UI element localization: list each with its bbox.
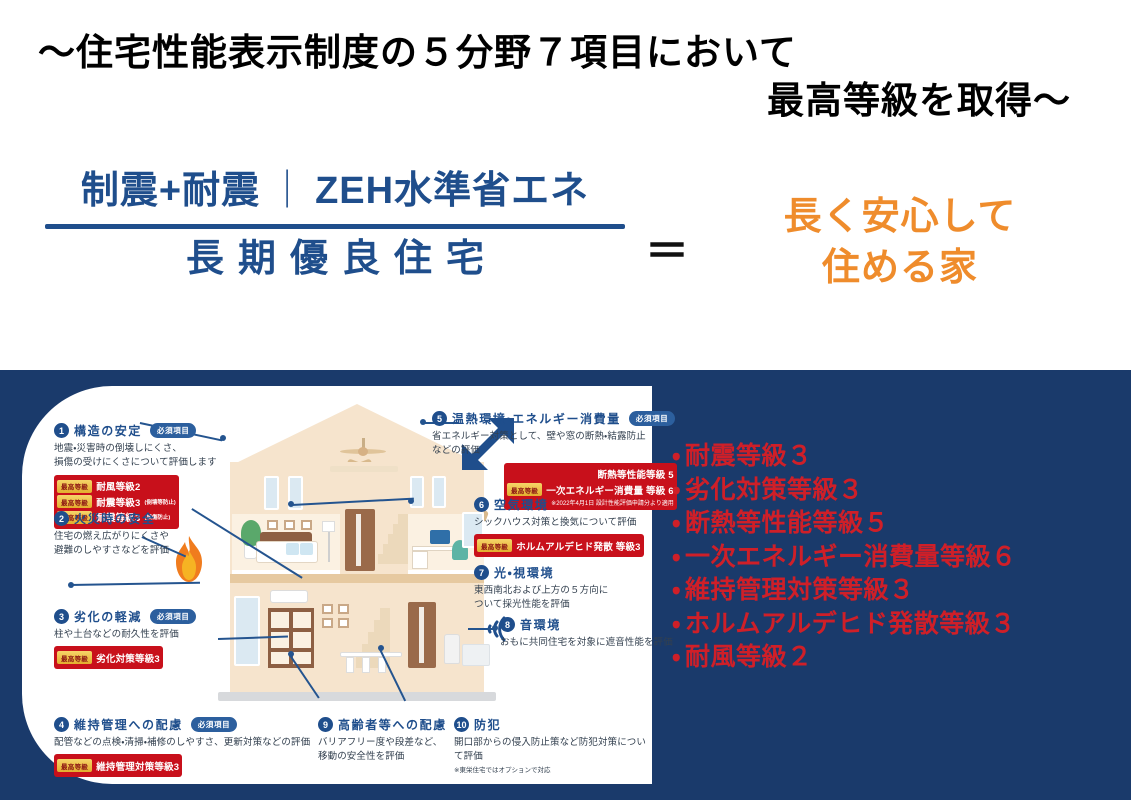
result-line2: 住める家 [700,243,1100,294]
callout-7-head: 7 光・視環境 [474,564,664,581]
grade-text: 一次エネルギー消費量 等級 6 [546,483,674,497]
callout-5: 5 温熱環境・エネルギー消費量 必須項目 省エネルギー対策として、壁や窓の断熱・… [432,410,654,510]
callout-4-head: 4 維持管理への配慮 必須項目 [54,716,354,733]
list-item: ・耐風等級２ [672,641,1112,675]
callout-3-desc: 柱や土台などの耐久性を評価 [54,628,234,642]
bullet: ・ [672,476,681,504]
result-line1: 長く安心して [700,192,1100,243]
bullet: ・ [672,576,681,604]
callout-6-desc: シックハウス対策と換気について評価 [474,516,674,530]
top-grade-badge: 最高等級 [57,495,92,508]
grade-text: 維持管理対策等級3 [96,759,179,773]
fraction-bar [45,224,625,229]
callout-2: 2 火災時の安全 住宅の燃え広がりにくさや 避難のしやすさなどを評価 [54,510,234,559]
callout-8-head: 8 音環境 [500,616,680,633]
callout-3-must-badge: 必須項目 [150,609,196,624]
bullet: ・ [672,610,681,638]
leader-dot-10 [378,645,384,651]
callout-5-must-badge: 必須項目 [629,411,675,426]
callout-10-title: 防犯 [474,716,501,733]
grade-text: ホルムアルデヒド発散 等級3 [516,539,640,553]
callout-8-desc: おもに共同住宅を対象に遮音性能を評価 [500,636,680,650]
house-ground-line [218,692,496,701]
callout-9: 9 高齢者等への配慮 バリアフリー度や段差など、 移動の安全性を評価 [318,716,458,765]
upper-stairs [378,502,408,564]
callout-4: 4 維持管理への配慮 必須項目 配管などの点検・清掃・補修のしやすさ、更新対策な… [54,716,354,777]
refrigerator [444,634,460,664]
callout-7: 7 光・視環境 東西南北および上方の５方向に ついて採光性能を評価 [474,564,664,613]
ceiling-fan-hub [358,447,368,456]
callout-3: 3 劣化の軽減 必須項目 柱や土台などの耐久性を評価 最高等級 劣化対策等級3 [54,608,234,669]
stool-1 [346,657,354,673]
kitchen-counter [462,644,490,666]
grade-text: 耐風等級2 [96,479,140,493]
callout-6-number: 6 [474,497,489,512]
grade-row: 最高等級 劣化対策等級3 [57,651,160,665]
grade-sub: (倒壊等防止) [145,498,176,506]
numerator-left: 制震+耐震 [81,170,260,212]
callout-2-number: 2 [54,511,69,526]
callout-5-number: 5 [432,411,447,426]
callout-1-title: 構造の安定 [74,422,142,439]
leader-line-3 [70,582,200,586]
callout-10-head: 10 防犯 [454,716,654,733]
grade-entry: 断熱等性能等級５ [685,509,889,537]
bullet: ・ [672,509,681,537]
bullet: ・ [672,643,681,671]
list-item: ・耐震等級３ [672,440,1112,474]
callout-10: 10 防犯 開口部からの侵入防止策など防犯対策について評価 ※東栄住宅ではオプシ… [454,716,654,775]
wall-frame-3 [301,520,312,530]
callout-10-note: ※東栄住宅ではオプションで対応 [454,766,654,775]
monitor-icon [430,530,450,544]
lower-frame-3 [322,618,333,628]
grade-entry: 耐震等級３ [685,442,813,470]
leader-dot-6 [288,501,294,507]
fraction-numerator: 制震+耐震｜ZEH水準省エネ [45,168,625,216]
grade-row: 断熱等性能等級 5 [507,467,674,481]
lower-frame-1 [322,604,333,614]
numerator-right: ZEH水準省エネ [315,170,589,212]
window-living [234,596,260,666]
callout-1-desc: 地震・災害時の倒壊しにくさ、 損傷の受けにくさについて評価します [54,442,234,471]
callout-1-number: 1 [54,423,69,438]
callout-4-grades: 最高等級 維持管理対策等級3 [54,754,182,777]
floor-divider [230,574,484,583]
callout-8-number: 8 [500,617,515,632]
callout-8: 8 音環境 おもに共同住宅を対象に遮音性能を評価 [500,616,680,650]
callout-1-head: 1 構造の安定 必須項目 [54,422,234,439]
grade-row: 最高等級 一次エネルギー消費量 等級 6 [507,483,674,497]
grade-entry: 劣化対策等級３ [685,476,864,504]
callout-8-title: 音環境 [520,616,561,633]
callout-6-title: 空気環境 [494,496,548,513]
list-item: ・ホルムアルデヒド発散等級３ [672,608,1112,642]
callout-9-title: 高齢者等への配慮 [338,716,447,733]
callout-5-desc: 省エネルギー対策として、壁や窓の断熱・結露防止などの評価 [432,430,654,459]
leader-dot-5 [420,419,426,425]
grade-row: 最高等級 耐震等級3 (倒壊等防止) [57,495,176,509]
callout-7-desc: 東西南北および上方の５方向に ついて採光性能を評価 [474,584,664,613]
stool-2 [362,657,370,673]
headline-line2: 最高等級を取得〜 [0,76,1131,126]
callout-6: 6 空気環境 シックハウス対策と換気について評価 最高等級 ホルムアルデヒド発散… [474,496,674,557]
callout-9-head: 9 高齢者等への配慮 [318,716,458,733]
callout-6-head: 6 空気環境 [474,496,674,513]
list-item: ・断熱等性能等級５ [672,507,1112,541]
callout-5-head: 5 温熱環境・エネルギー消費量 必須項目 [432,410,654,427]
pillow-2 [300,543,313,555]
callout-1-must-badge: 必須項目 [150,423,196,438]
callout-10-number: 10 [454,717,469,732]
grade-text: 劣化対策等級3 [96,651,160,665]
headline: 〜住宅性能表示制度の５分野７項目において 最高等級を取得〜 [0,30,1131,126]
window-attic-1 [264,476,279,510]
leader-dot-9 [288,651,294,657]
callout-4-number: 4 [54,717,69,732]
equals-sign: ＝ [645,230,689,274]
callout-9-number: 9 [318,717,333,732]
callout-4-desc: 配管などの点検・清掃・補修のしやすさ、更新対策などの評価 [54,736,354,750]
grade-row: 最高等級 耐風等級2 [57,479,176,493]
callout-7-number: 7 [474,565,489,580]
callout-9-desc: バリアフリー度や段差など、 移動の安全性を評価 [318,736,458,765]
equation-result: 長く安心して 住める家 [700,192,1100,295]
headline-line1: 〜住宅性能表示制度の５分野７項目において [0,30,1131,76]
panel-white-card: 1 構造の安定 必須項目 地震・災害時の倒壊しにくさ、 損傷の受けにくさについて… [22,386,652,784]
callout-10-desc: 開口部からの侵入防止策など防犯対策について評価 [454,736,654,765]
floor-lamp-shade [322,521,335,532]
wall-frame-1 [267,520,278,530]
lower-frame-4 [338,618,349,628]
grade-summary-list: ・耐震等級３ ・劣化対策等級３ ・断熱等性能等級５ ・一次エネルギー消費量等級６… [672,440,1112,675]
equation-block: 制震+耐震｜ZEH水準省エネ 長期優良住宅 ＝ 長く安心して 住める家 [0,168,1131,348]
callout-3-head: 3 劣化の軽減 必須項目 [54,608,234,625]
top-grade-badge: 最高等級 [57,480,92,493]
grade-row: 最高等級 ホルムアルデヒド発散 等級3 [477,539,641,553]
top-grade-badge: 最高等級 [477,539,512,552]
top-grade-badge: 最高等級 [57,651,92,664]
ceiling-beam [330,466,398,472]
callout-5-title: 温熱環境・エネルギー消費量 [452,410,621,427]
air-conditioner-icon [270,590,308,603]
grade-entry: 耐風等級２ [685,643,813,671]
leader-dot-8 [492,625,498,631]
lower-frame-2 [338,604,349,614]
top-grade-badge: 最高等級 [57,759,92,772]
callout-3-title: 劣化の軽減 [74,608,142,625]
grade-text: 断熱等性能等級 5 [598,467,674,481]
callout-7-title: 光・視環境 [494,564,554,581]
list-item: ・一次エネルギー消費量等級６ [672,541,1112,575]
floor-lamp-stem [328,532,330,562]
fraction: 制震+耐震｜ZEH水準省エネ 長期優良住宅 [45,168,625,284]
grade-entry: 一次エネルギー消費量等級６ [685,543,1017,571]
grade-entry: ホルムアルデヒド発散等級３ [685,610,1016,638]
list-item: ・劣化対策等級３ [672,474,1112,508]
bed-headboard [260,532,312,541]
bullet: ・ [672,442,681,470]
top-grade-badge: 最高等級 [507,483,542,496]
leader-dot-6b [408,498,414,504]
desk-drawers [412,551,428,569]
numerator-separator: ｜ [260,170,315,212]
pillow-1 [286,543,299,555]
callout-4-title: 維持管理への配慮 [74,716,183,733]
callout-2-title: 火災時の安全 [74,510,156,527]
grade-entry: 維持管理対策等級３ [685,576,915,604]
callout-3-grades: 最高等級 劣化対策等級3 [54,646,163,669]
list-item: ・維持管理対策等級３ [672,574,1112,608]
bullet: ・ [672,543,681,571]
grade-text: 耐震等級3 [96,495,140,509]
infographic-page: 〜住宅性能表示制度の５分野７項目において 最高等級を取得〜 制震+耐震｜ZEH水… [0,0,1131,800]
fraction-denominator: 長期優良住宅 [45,235,625,284]
upper-door [345,509,375,571]
lower-door [408,602,436,668]
callout-2-desc: 住宅の燃え広がりにくさや 避難のしやすさなどを評価 [54,530,234,559]
grade-row: 最高等級 維持管理対策等級3 [57,759,179,773]
callout-3-number: 3 [54,609,69,624]
wall-frame-2 [284,520,295,530]
callout-4-must-badge: 必須項目 [191,717,237,732]
callout-2-head: 2 火災時の安全 [54,510,234,527]
callout-6-grades: 最高等級 ホルムアルデヒド発散 等級3 [474,534,644,557]
